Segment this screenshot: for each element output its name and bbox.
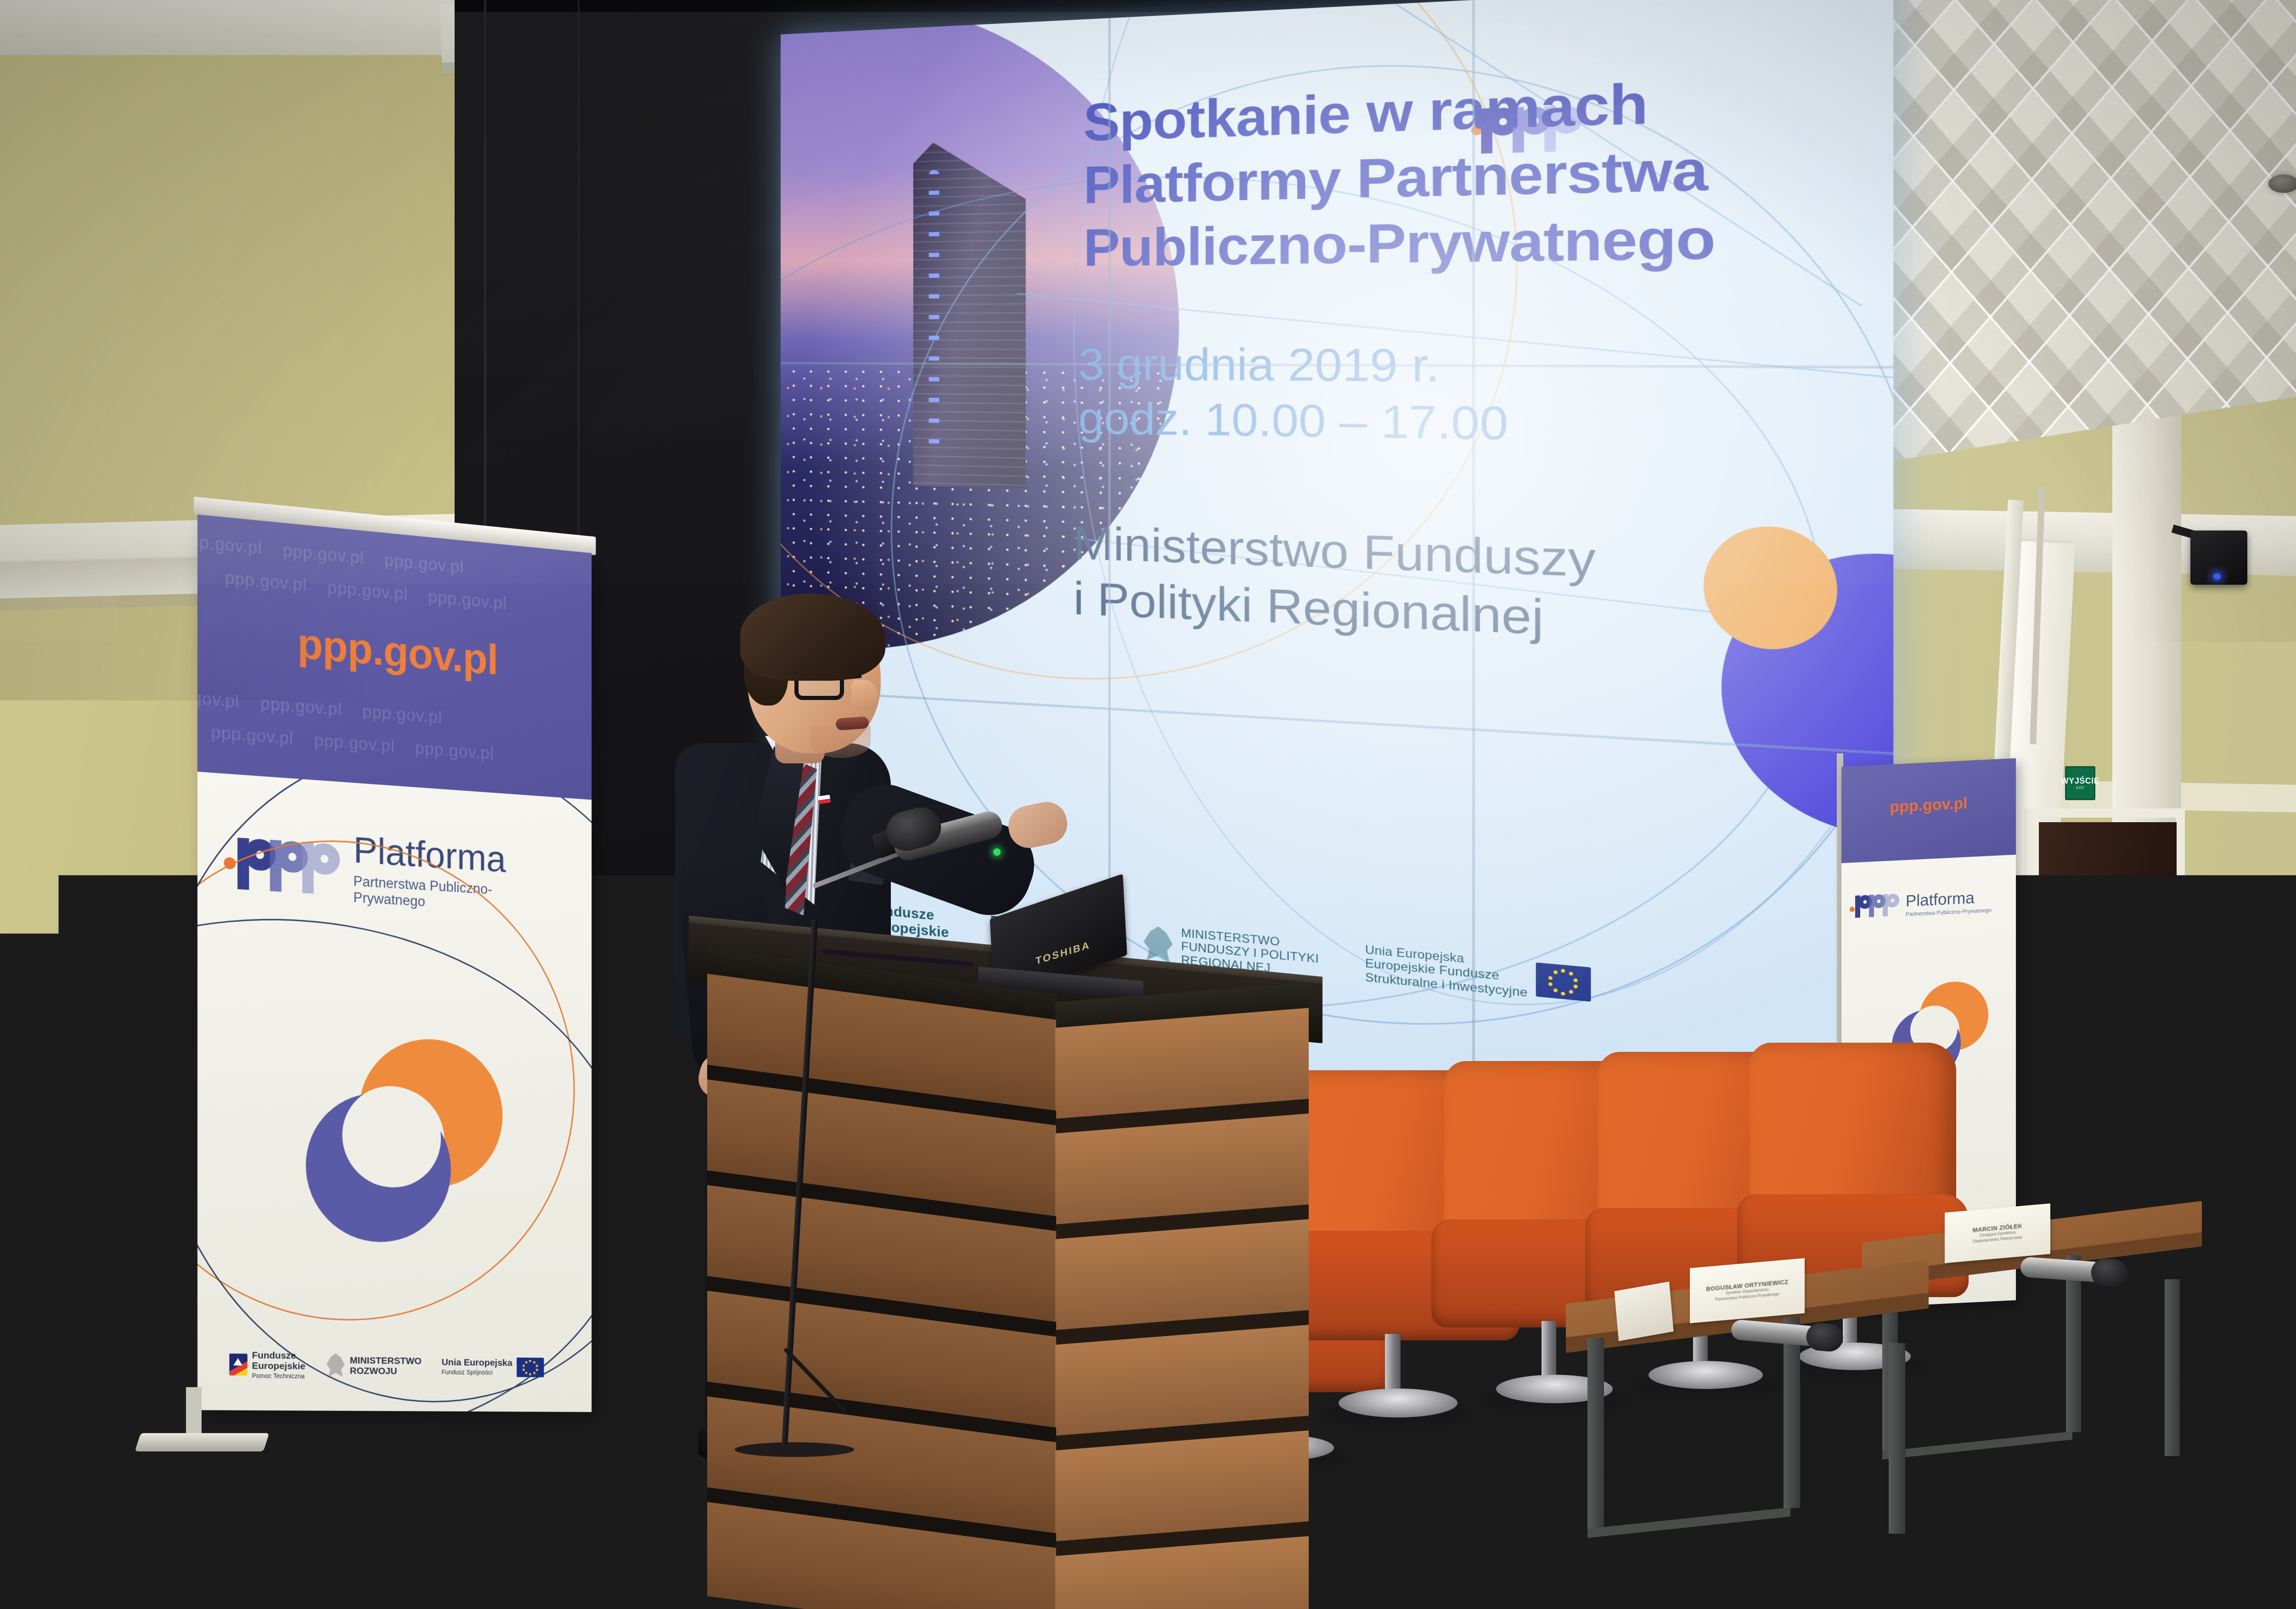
- banner-brand-text: Platforma Partnerstwa Publiczno-Prywatne…: [1906, 889, 1992, 917]
- banner-header-panel: ppp.gov.pl: [1841, 758, 2016, 864]
- logo-unia-europejska: Unia EuropejskaFundusz Spójności: [442, 1357, 544, 1378]
- logo-label: Fundusze EuropejskiePomoc Techniczna: [252, 1350, 305, 1380]
- mic-stand-base: [735, 1442, 854, 1457]
- banner-header-panel: ppp.gov.pl ppp.gov.pl ppp.gov.pl ppp.gov…: [197, 514, 591, 800]
- polish-eagle-icon: [326, 1353, 346, 1378]
- ppp-logo-dot-icon: [1850, 907, 1855, 912]
- exit-sign: WYJŚCIE EXIT: [2065, 766, 2095, 800]
- door-handle[interactable]: [2158, 1043, 2166, 1071]
- fundusze-europejskie-icon: [229, 1354, 247, 1376]
- rollup-banner-left: ppp.gov.pl ppp.gov.pl ppp.gov.pl ppp.gov…: [197, 514, 591, 1412]
- microphone-led-icon: [993, 848, 1001, 856]
- logo-ministerstwo-rozwoju: MINISTERSTWO ROZWOJU: [326, 1353, 422, 1378]
- banner-brand-main: Platforma: [1906, 889, 1992, 909]
- table-leg: [1587, 1338, 1604, 1528]
- banner-ppp-logo: Platforma Partnerstwa Publiczno-Prywatne…: [1853, 888, 1992, 920]
- table-rail: [1587, 1507, 1790, 1538]
- wooden-lectern: [707, 997, 1309, 1609]
- table-leg: [2066, 1255, 2081, 1432]
- person-mouth: [835, 717, 869, 731]
- conference-hall-photo: WYJŚCIE EXIT: [0, 0, 2296, 1609]
- polish-flag-lapel-pin-icon: [818, 795, 831, 804]
- banner-url: ppp.gov.pl: [197, 610, 591, 692]
- table-leg: [1889, 1343, 1905, 1533]
- banner-url: ppp.gov.pl: [1841, 792, 2016, 819]
- banner-left-pole: [186, 1387, 202, 1438]
- name-card: [1614, 1282, 1673, 1341]
- lectern-slat: [707, 1525, 1309, 1609]
- table-leg: [2165, 1279, 2180, 1456]
- name-card: BOGUSŁAW ORTYNIEWICZ Dyrektor Departamen…: [1690, 1258, 1805, 1323]
- exit-sign-label: WYJŚCIE: [2061, 777, 2100, 785]
- person-nose: [851, 680, 877, 708]
- banner-footer-logos: Fundusze EuropejskiePomoc Techniczna MIN…: [229, 1335, 574, 1397]
- banner-body-panel: Platforma Partnerstwa Publiczno-Prywatne…: [197, 772, 591, 1412]
- left-wall-upper-band: [0, 0, 487, 55]
- logo-fundusze-europejskie: Fundusze EuropejskiePomoc Techniczna: [229, 1349, 305, 1380]
- floor-mat: [2037, 1543, 2296, 1598]
- exit-sign-sublabel: EXIT: [2076, 786, 2084, 790]
- logo-sublabel: Fundusz Spójności: [442, 1369, 512, 1376]
- name-card: MARCIN ZIÓŁEK Zastępca Dyrektora Departa…: [1945, 1203, 2050, 1263]
- ceiling-downlight-icon: [2268, 175, 2296, 193]
- person-jaw: [811, 726, 871, 758]
- table-leg: [1784, 1317, 1800, 1507]
- ppp-logo-mark: [1853, 892, 1901, 920]
- logo-label: Unia EuropejskaFundusz Spójności: [442, 1357, 512, 1377]
- logo-label: MINISTERSTWO ROZWOJU: [350, 1355, 422, 1377]
- logo-sublabel: Pomoc Techniczna: [252, 1372, 305, 1380]
- speaker-power-led-icon: [2213, 573, 2221, 580]
- eu-flag-icon: [517, 1357, 544, 1377]
- chair-base-disc: [1339, 1389, 1458, 1417]
- banner-left-base: [135, 1433, 270, 1451]
- banner-circles-graphic: [225, 971, 558, 1306]
- person-hair: [740, 593, 885, 681]
